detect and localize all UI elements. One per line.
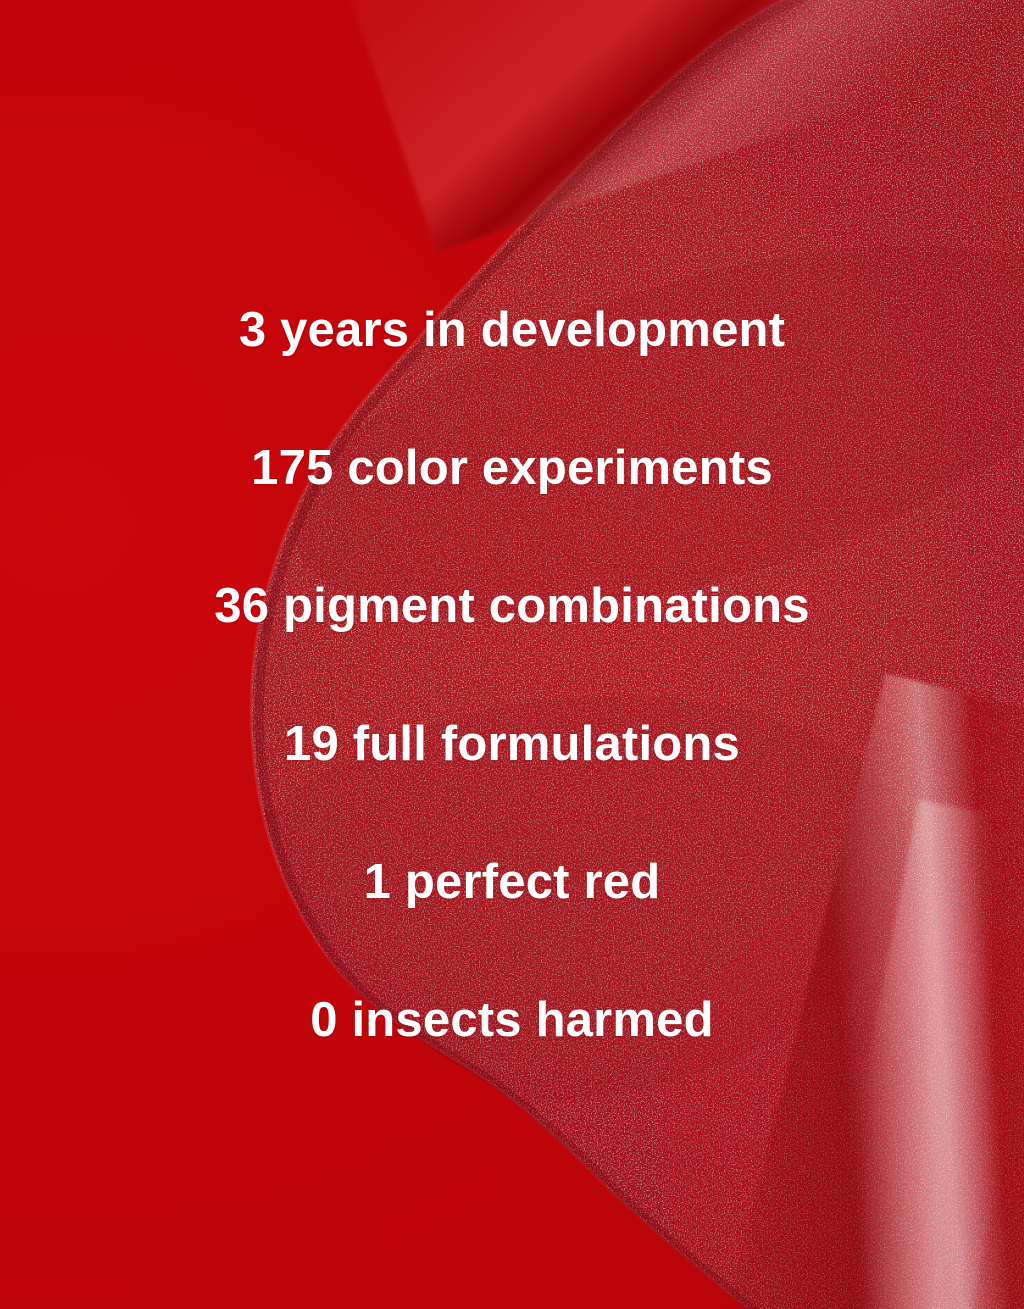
stat-line-experiments: 175 color experiments (0, 399, 1024, 537)
stat-list: 3 years in development 175 color experim… (0, 0, 1024, 1309)
stat-line-insects: 0 insects harmed (0, 951, 1024, 1089)
stat-line-pigments: 36 pigment combinations (0, 537, 1024, 675)
stat-line-years: 3 years in development (0, 261, 1024, 399)
stat-line-perfect-red: 1 perfect red (0, 813, 1024, 951)
stat-card: 3 years in development 175 color experim… (0, 0, 1024, 1309)
stat-line-formulations: 19 full formulations (0, 675, 1024, 813)
